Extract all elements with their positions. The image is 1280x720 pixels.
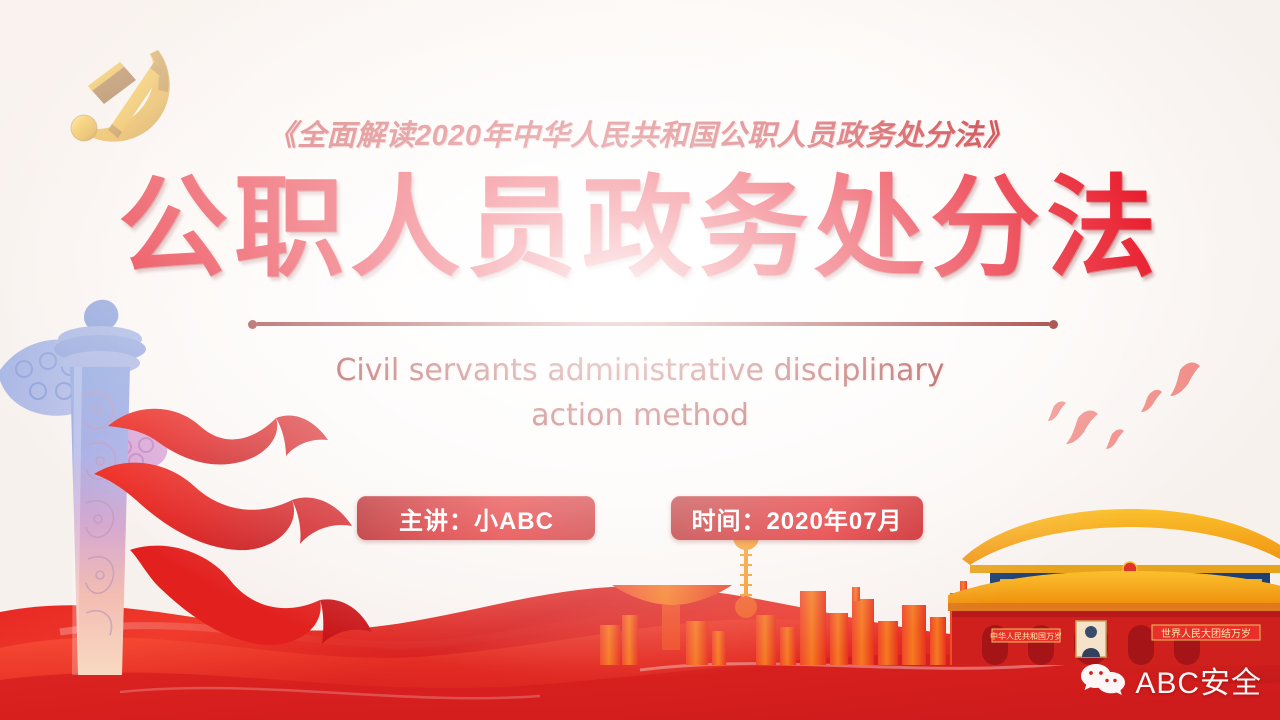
poster-canvas: 中华人民共和国万岁 世界人民大团结万岁 [0,0,1280,720]
page-title: 公职人员政务处分法 [0,168,1280,289]
divider-cap-right [1049,320,1058,329]
watermark-label: ABC安全 [1135,658,1262,702]
poster-subtitle-top: 《全面解读2020年中华人民共和国公职人员政务处分法》 [0,112,1280,154]
divider-bar [256,322,1050,326]
subtitle-english-line2: action method [0,393,1280,438]
wechat-icon [1081,662,1125,698]
date-badge: 时间：2020年07月 [671,496,922,540]
poster-badges: 主讲：小ABC 时间：2020年07月 [0,496,1280,540]
poster-text-block: 《全面解读2020年中华人民共和国公职人员政务处分法》 公职人员政务处分法 Ci… [0,0,1280,720]
title-divider [248,320,1058,328]
poster-subtitle-english: Civil servants administrative disciplina… [0,348,1280,438]
speaker-badge: 主讲：小ABC [357,496,595,540]
subtitle-english-line1: Civil servants administrative disciplina… [0,348,1280,393]
wechat-watermark: ABC安全 [1081,658,1262,702]
